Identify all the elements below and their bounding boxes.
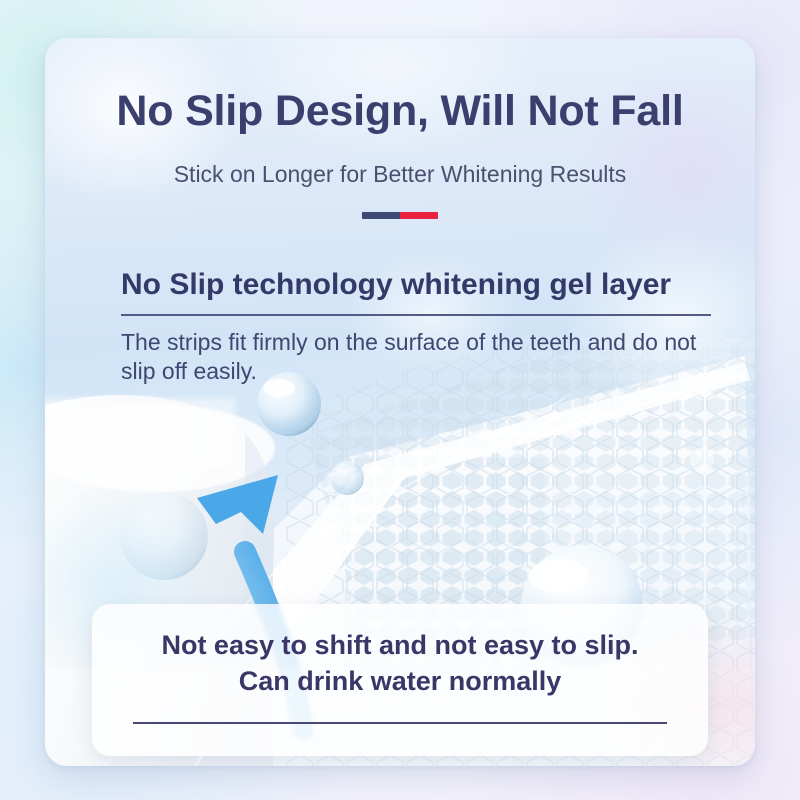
callout-text: Not easy to shift and not easy to slip. … bbox=[92, 628, 708, 700]
accent-divider bbox=[362, 212, 438, 219]
product-card: No Slip Design, Will Not Fall Stick on L… bbox=[45, 38, 755, 766]
feature-heading-rule bbox=[121, 314, 711, 316]
headline: No Slip Design, Will Not Fall bbox=[45, 90, 755, 133]
feature-body: The strips fit firmly on the surface of … bbox=[121, 328, 721, 387]
subheadline: Stick on Longer for Better Whitening Res… bbox=[45, 163, 755, 186]
water-droplet-small bbox=[330, 461, 364, 495]
water-bubble-left bbox=[120, 492, 208, 580]
accent-divider-left bbox=[362, 212, 400, 219]
callout-card: Not easy to shift and not easy to slip. … bbox=[92, 604, 708, 756]
feature-heading: No Slip technology whitening gel layer bbox=[121, 269, 721, 301]
product-infographic: No Slip Design, Will Not Fall Stick on L… bbox=[0, 0, 800, 800]
accent-divider-right bbox=[400, 212, 438, 219]
callout-rule bbox=[133, 722, 667, 724]
